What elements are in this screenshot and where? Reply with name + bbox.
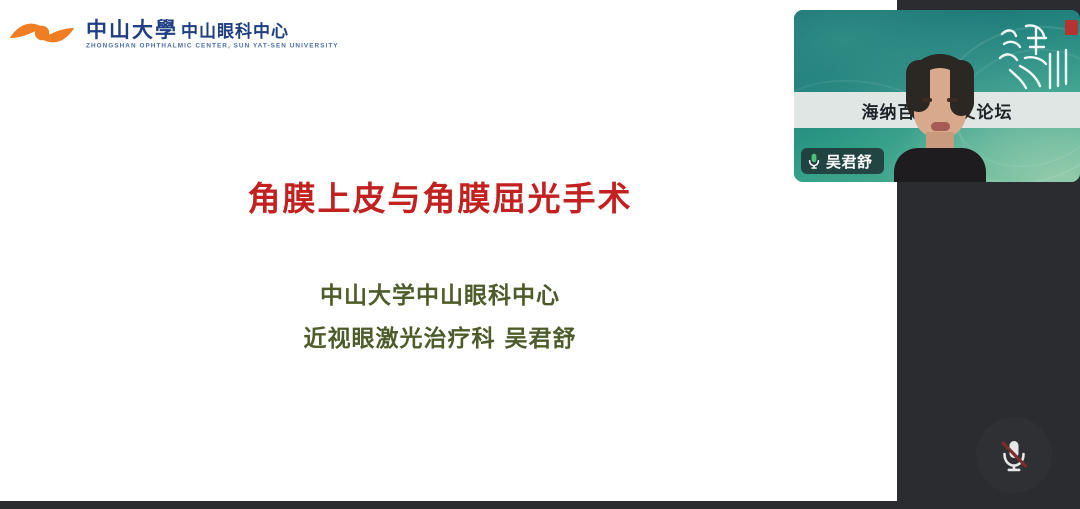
- participant-name-badge: 吴君舒: [801, 148, 884, 174]
- slide-affiliation-line-2: 近视眼激光治疗科 吴君舒: [0, 319, 880, 353]
- slide-affiliation-line-1: 中山大学中山眼科中心: [0, 276, 880, 310]
- bottom-letterbox-strip: [0, 501, 897, 509]
- forum-watermark-icon: [996, 14, 1070, 92]
- microphone-muted-icon: [994, 435, 1034, 475]
- presenter-video-figure: [892, 54, 988, 182]
- speaker-video-tile[interactable]: 海纳百川 交叉论坛 吴君舒: [794, 10, 1080, 182]
- participant-name-label: 吴君舒: [826, 151, 873, 172]
- slide-title: 角膜上皮与角膜屈光手术: [0, 172, 880, 220]
- slide-content: 角膜上皮与角膜屈光手术 中山大学中山眼科中心 近视眼激光治疗科 吴君舒: [0, 0, 897, 501]
- presenter-hair-right: [950, 60, 974, 116]
- presenter-hair-left: [906, 60, 930, 112]
- presenter-eye-left: [921, 98, 932, 102]
- presenter-eye-right: [947, 98, 958, 102]
- presenter-mouth: [931, 122, 950, 131]
- presenter-torso: [894, 148, 986, 182]
- microphone-icon: [808, 153, 820, 169]
- watermark-seal-stamp: [1065, 20, 1078, 35]
- meeting-screenshare-view: 中山大學 中山眼科中心 ZHONGSHAN OPHTHALMIC CENTER,…: [0, 0, 1080, 509]
- mute-toggle-button[interactable]: [976, 417, 1052, 493]
- presentation-slide: 中山大學 中山眼科中心 ZHONGSHAN OPHTHALMIC CENTER,…: [0, 0, 897, 501]
